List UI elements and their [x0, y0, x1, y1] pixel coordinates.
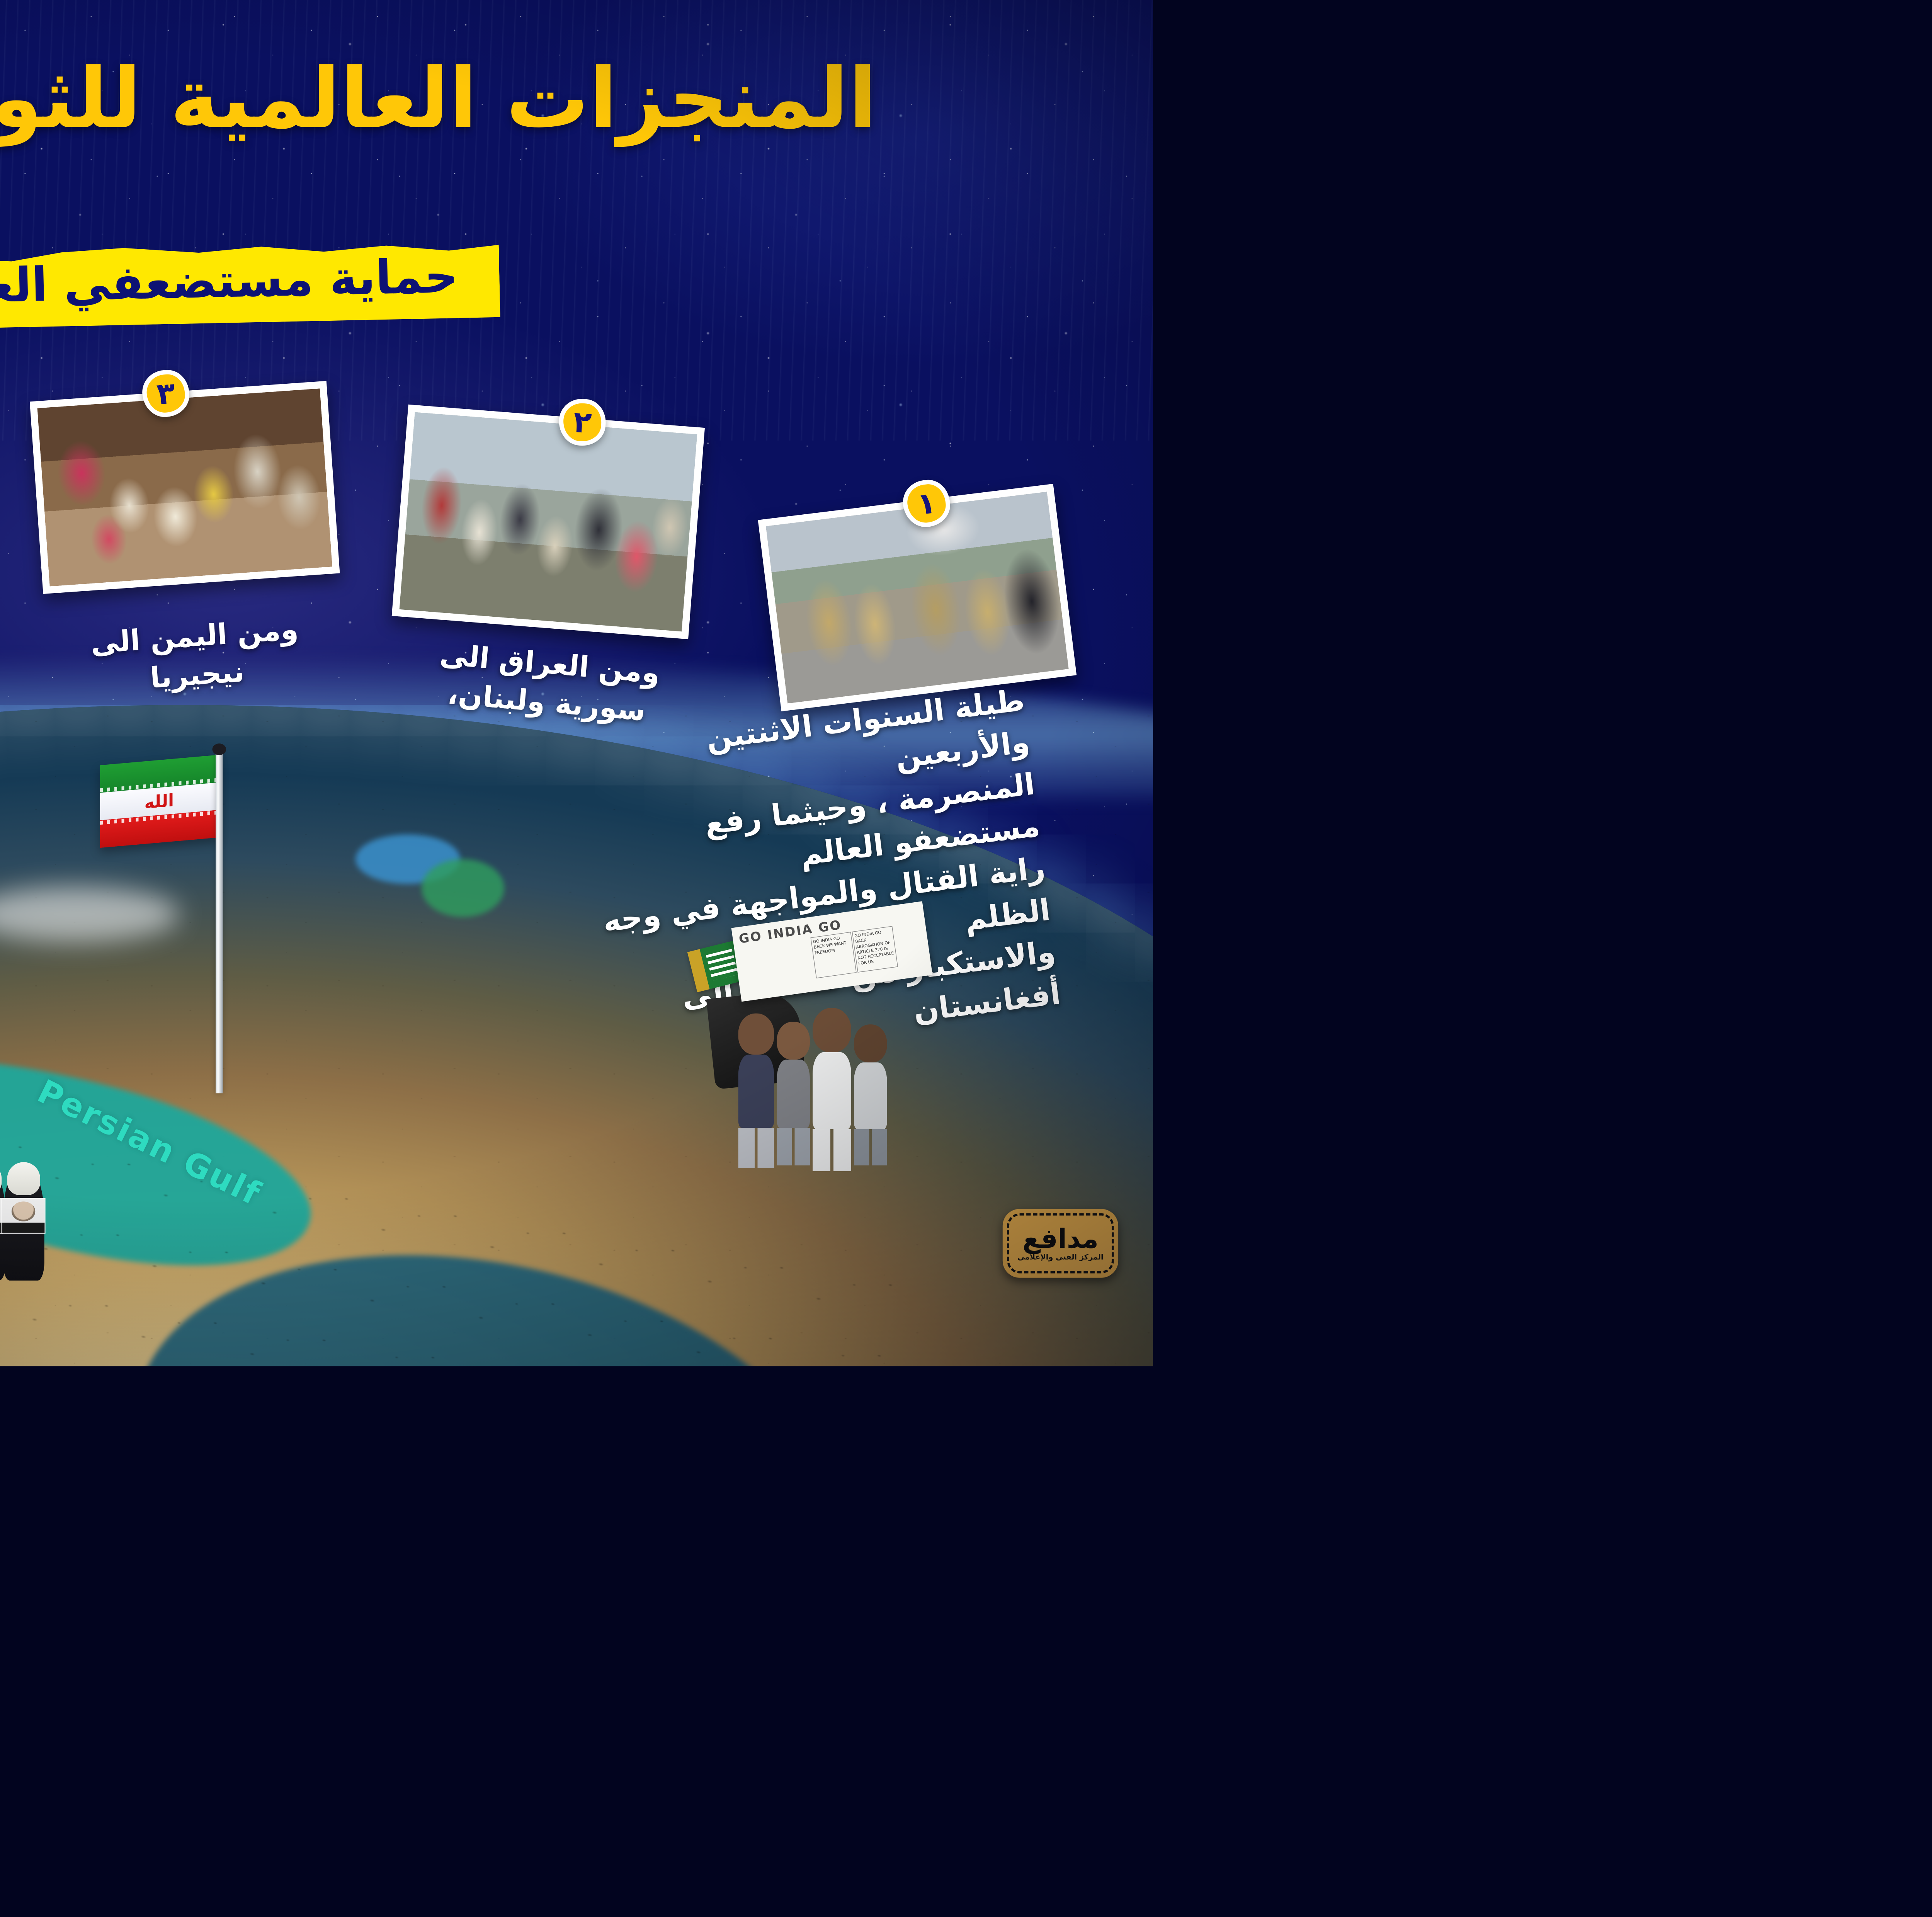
protester-figure — [813, 1008, 851, 1132]
media-center-logo[interactable]: مدافع المركز الفني والإعلامي — [1003, 1209, 1118, 1278]
poster-canvas: Persian Gulf المنجزات العالمية للثورة ال… — [0, 0, 1153, 1366]
headscarf — [0, 1162, 2, 1195]
photo-refugees-displaced — [400, 412, 697, 632]
subtitle-text: حماية مستضعفي العالم — [0, 249, 459, 315]
cleric-portrait — [12, 1201, 35, 1221]
kashmir-protest-group: GO INDIA GO GO INDIA GO BACK WE WANT FRE… — [702, 914, 945, 1132]
kashmir-banner: GO INDIA GO GO INDIA GO BACK WE WANT FRE… — [731, 901, 933, 1002]
placard-2: GO INDIA GO BACK ABROGATION OF ARTICLE 3… — [852, 926, 898, 973]
subtitle-banner: حماية مستضعفي العالم — [0, 238, 500, 330]
flag-pole-cap — [213, 743, 226, 755]
photo-card-3[interactable]: ٣ — [30, 381, 340, 594]
bahrain-women-group — [0, 1104, 47, 1281]
photo-yemen-family — [37, 389, 332, 587]
protester-figure — [777, 1022, 810, 1132]
green-basin — [422, 859, 504, 917]
photo-card-2[interactable]: ٢ — [392, 405, 705, 639]
logo-subtitle: المركز الفني والإعلامي — [1017, 1253, 1103, 1261]
iran-flag: الله — [100, 755, 218, 848]
headscarf — [7, 1162, 41, 1195]
photo-card-1[interactable]: ١ — [758, 484, 1077, 711]
portrait-placard — [2, 1198, 46, 1234]
page-title: المنجزات العالمية للثورة الاسلامية — [0, 52, 1153, 145]
logo-calligraphy: مدافع — [1022, 1225, 1099, 1252]
woman-figure — [3, 1165, 44, 1281]
flag-pole — [216, 752, 223, 1094]
iran-emblem: الله — [145, 790, 174, 813]
protester-figure — [738, 1014, 774, 1132]
protester-figure — [854, 1024, 887, 1132]
placard-1: GO INDIA GO BACK WE WANT FREEDOM — [811, 932, 857, 978]
